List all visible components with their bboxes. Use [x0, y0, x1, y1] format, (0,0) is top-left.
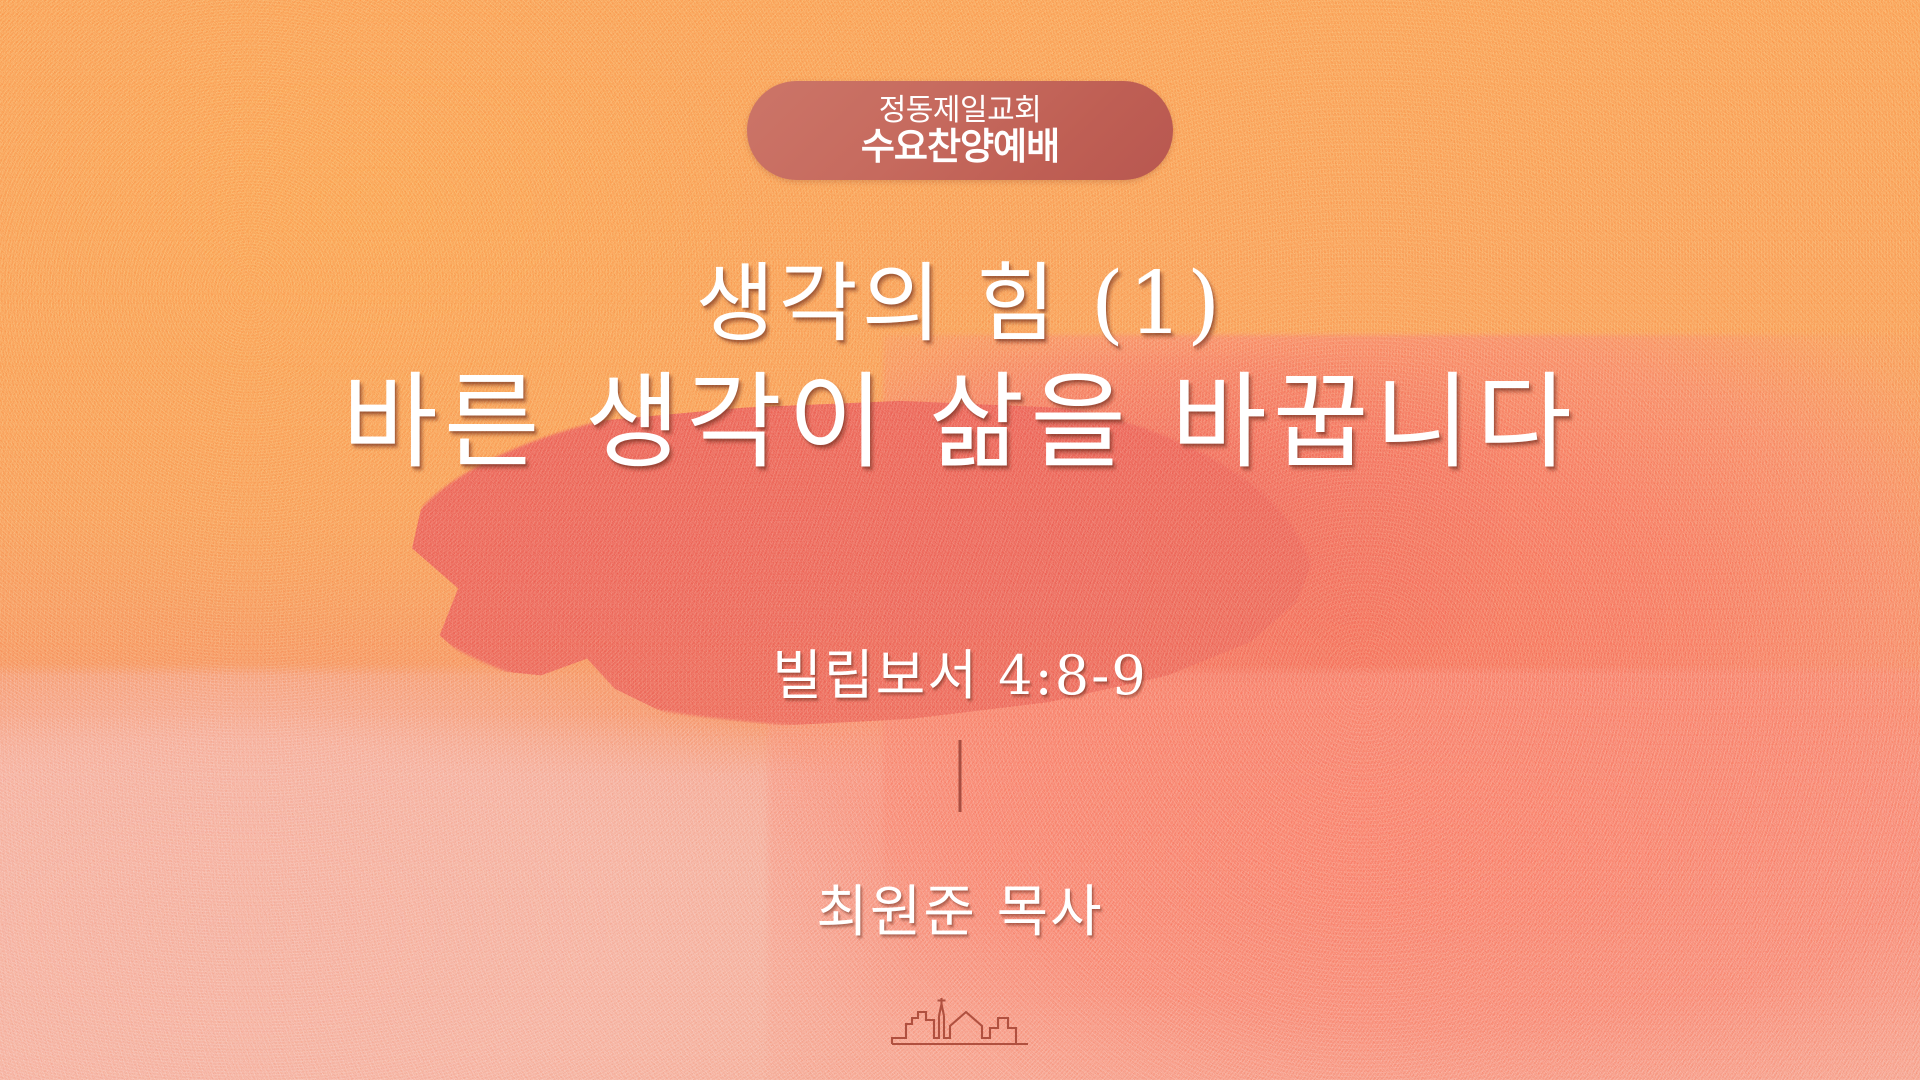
scripture-reference: 빌립보서 4:8-9	[0, 631, 1920, 710]
sermon-title: 생각의 힘 (1) 바른 생각이 삶을 바꿉니다	[0, 252, 1920, 486]
church-skyline-icon	[890, 998, 1030, 1056]
church-name-label: 정동제일교회	[879, 96, 1042, 126]
service-badge: 정동제일교회 수요찬양예배	[747, 81, 1173, 180]
speaker-name: 최원준 목사	[0, 867, 1920, 948]
service-name-label: 수요찬양예배	[861, 128, 1059, 165]
vertical-divider	[959, 740, 962, 812]
sermon-title-line-2: 바른 생각이 삶을 바꿉니다	[0, 359, 1920, 486]
worship-title-slide: 정동제일교회 수요찬양예배 생각의 힘 (1) 바른 생각이 삶을 바꿉니다 빌…	[0, 0, 1920, 1080]
sermon-title-line-1: 생각의 힘 (1)	[0, 252, 1920, 357]
